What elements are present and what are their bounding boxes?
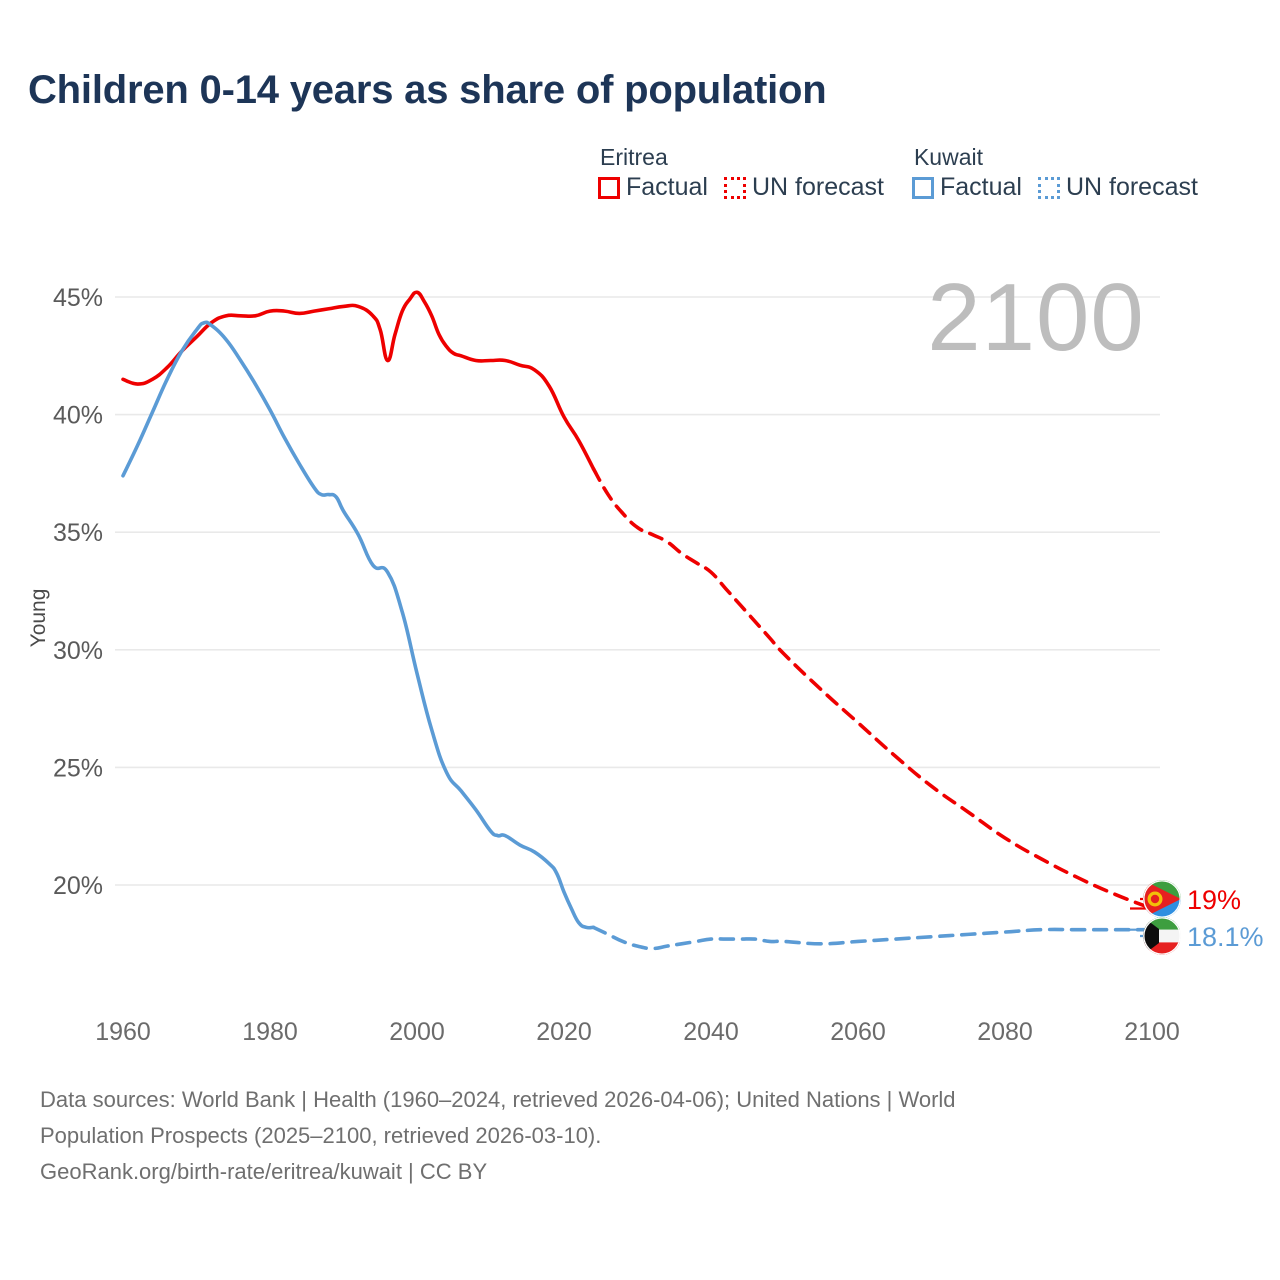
y-tick-label: 40% <box>53 402 103 430</box>
y-tick-label: 25% <box>53 754 103 782</box>
gridlines <box>115 297 1160 885</box>
y-tick-label: 20% <box>53 872 103 900</box>
y-tick-label: 35% <box>53 519 103 547</box>
series-line-eritrea-forecast <box>593 469 1152 909</box>
footer-line-1: Data sources: World Bank | Health (1960–… <box>40 1082 1220 1118</box>
y-axis-title: Young <box>27 589 50 648</box>
end-markers-group: 19%18.1% <box>1130 880 1264 955</box>
x-tick-label: 2080 <box>977 1018 1033 1046</box>
x-tick-label: 2000 <box>389 1018 445 1046</box>
series-line-eritrea-factual <box>123 292 593 468</box>
flag-icon-eritrea <box>1143 880 1181 918</box>
footer-line-2: Population Prospects (2025–2100, retriev… <box>40 1118 1220 1154</box>
flag-icon-kuwait <box>1143 917 1181 955</box>
x-tick-label: 2020 <box>536 1018 592 1046</box>
x-tick-label: 1960 <box>95 1018 151 1046</box>
x-tick-label: 2060 <box>830 1018 886 1046</box>
series-line-kuwait-forecast <box>593 927 1152 948</box>
x-tick-label: 1980 <box>242 1018 298 1046</box>
y-tick-label: 45% <box>53 284 103 312</box>
footer-line-3[interactable]: GeoRank.org/birth-rate/eritrea/kuwait | … <box>40 1154 1220 1190</box>
y-axis-tick-labels: 20%25%30%35%40%45% <box>53 284 103 900</box>
end-value-label-eritrea: 19% <box>1187 885 1241 915</box>
data-series-group <box>123 292 1152 948</box>
x-tick-label: 2100 <box>1124 1018 1180 1046</box>
x-axis-tick-labels: 19601980200020202040206020802100 <box>95 1018 1180 1046</box>
x-tick-label: 2040 <box>683 1018 739 1046</box>
year-watermark: 2100 <box>927 264 1145 371</box>
end-value-label-kuwait: 18.1% <box>1187 922 1264 952</box>
chart-footer: Data sources: World Bank | Health (1960–… <box>40 1082 1220 1190</box>
chart-page: Children 0-14 years as share of populati… <box>0 0 1280 1280</box>
y-tick-label: 30% <box>53 637 103 665</box>
series-line-kuwait-factual <box>123 322 593 928</box>
